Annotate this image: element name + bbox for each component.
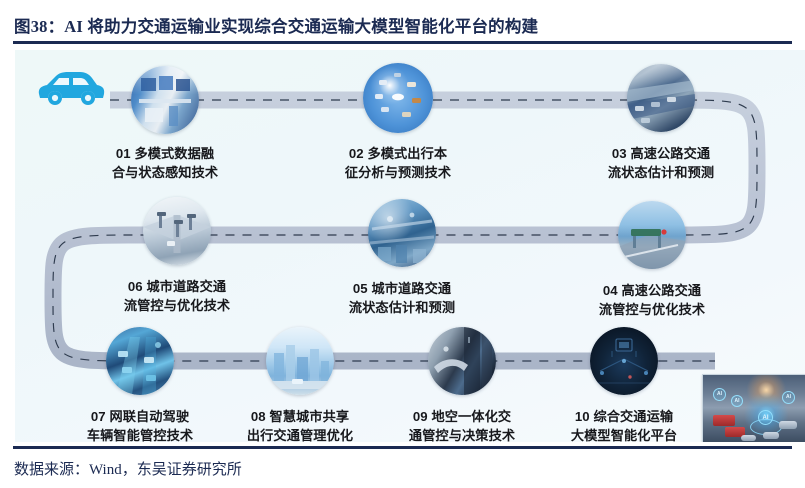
intersection-signal-control-photo — [143, 197, 211, 265]
node-08-line1: 08 智慧城市共享 — [251, 409, 349, 424]
node-09-line2: 通管控与决策技术 — [370, 426, 554, 442]
urban-traffic-aerial-photo — [368, 199, 436, 267]
air-ground-integrated-photo — [428, 327, 496, 395]
page-title: 图38：AI 将助力交通运输业实现综合交通运输大模型智能化平台的构建 — [14, 13, 538, 37]
node-07-line1: 07 网联自动驾驶 — [91, 409, 189, 424]
node-08-image — [266, 327, 334, 395]
smart-city-skyline-photo — [266, 327, 334, 395]
node-05-caption: 05 城市道路交通 流状态估计和预测 — [310, 279, 494, 317]
node-07-line2: 车辆智能管控技术 — [48, 426, 232, 442]
node-07-caption: 07 网联自动驾驶 车辆智能管控技术 — [48, 407, 232, 442]
highway-gantry-control-photo — [618, 201, 686, 269]
ai-badge-1: AI — [713, 388, 726, 401]
ai-smart-city-traffic-render: AI AI AI AI — [702, 374, 805, 442]
figure-page: 图38：AI 将助力交通运输业实现综合交通运输大模型智能化平台的构建 — [0, 0, 805, 488]
node-01-line2: 合与状态感知技术 — [73, 163, 257, 182]
source-note: 数据来源：Wind，东吴证券研究所 — [14, 458, 242, 479]
node-08-line2: 出行交通管理优化 — [208, 426, 392, 442]
node-08-caption: 08 智慧城市共享 出行交通管理优化 — [208, 407, 392, 442]
node-01-image — [131, 66, 199, 134]
node-03-line2: 流状态估计和预测 — [569, 163, 753, 182]
node-05-image — [368, 199, 436, 267]
node-04-line2: 流管控与优化技术 — [560, 300, 744, 319]
ai-badge-2: AI — [731, 395, 743, 407]
node-09-caption: 09 地空一体化交 通管控与决策技术 — [370, 407, 554, 442]
integrated-transport-platform-photo — [590, 327, 658, 395]
node-03-line1: 03 高速公路交通 — [612, 146, 710, 161]
node-06-caption: 06 城市道路交通 流管控与优化技术 — [85, 277, 269, 315]
ai-bus-1 — [713, 415, 735, 426]
node-09-image — [428, 327, 496, 395]
node-07-image — [106, 327, 174, 395]
node-05-line2: 流状态估计和预测 — [310, 298, 494, 317]
surveillance-control-room-photo — [131, 66, 199, 134]
multimodal-transport-globe-photo — [363, 63, 433, 133]
footer-divider — [13, 446, 792, 449]
node-04-line1: 04 高速公路交通 — [603, 283, 701, 298]
node-06-line2: 流管控与优化技术 — [85, 296, 269, 315]
title-divider — [13, 41, 792, 44]
ai-vehicle-1 — [779, 421, 797, 429]
node-04-caption: 04 高速公路交通 流管控与优化技术 — [560, 281, 744, 319]
ai-vehicle-3 — [741, 435, 756, 441]
node-03-image — [627, 64, 695, 132]
node-10-line2: 大模型智能化平台 — [532, 426, 716, 442]
node-06-image — [143, 197, 211, 265]
node-02-line2: 征分析与预测技术 — [306, 163, 490, 182]
ai-badge-3: AI — [782, 391, 795, 404]
connected-autonomous-vehicles-photo — [106, 327, 174, 395]
node-02-caption: 02 多模式出行本 征分析与预测技术 — [306, 144, 490, 182]
node-03-caption: 03 高速公路交通 流状态估计和预测 — [569, 144, 753, 182]
ai-vehicle-2 — [763, 432, 779, 439]
node-10-line1: 10 综合交通运输 — [575, 409, 673, 424]
node-10-caption: 10 综合交通运输 大模型智能化平台 — [532, 407, 716, 442]
node-10-image — [590, 327, 658, 395]
node-01-line1: 01 多模式数据融 — [116, 146, 214, 161]
node-02-line1: 02 多模式出行本 — [349, 146, 447, 161]
car-icon — [35, 67, 107, 109]
diagram-panel: 01 多模式数据融 合与状态感知技术 — [15, 50, 805, 442]
node-01-caption: 01 多模式数据融 合与状态感知技术 — [73, 144, 257, 182]
node-06-line1: 06 城市道路交通 — [128, 279, 226, 294]
node-09-line1: 09 地空一体化交 — [413, 409, 511, 424]
highway-traffic-flow-photo — [627, 64, 695, 132]
node-02-image — [363, 63, 433, 133]
node-05-line1: 05 城市道路交通 — [353, 281, 451, 296]
node-04-image — [618, 201, 686, 269]
